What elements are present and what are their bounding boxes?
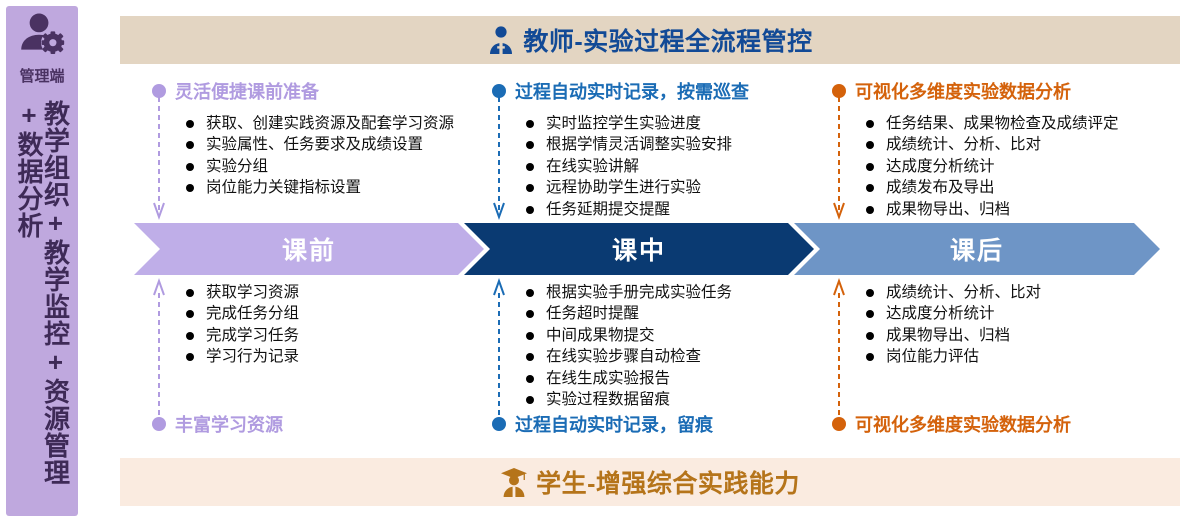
pre-class-teacher-bullets: 获取、创建实践资源及配套学习资源 实验属性、任务要求及成绩设置 实验分组 岗位能… [186, 113, 482, 199]
process-stage-bar: 课前 课中 课后 [134, 223, 1180, 275]
post-class-student-bullets: 成绩统计、分析、比对 达成度分析统计 成果物导出、归档 岗位能力评估 [866, 282, 1172, 368]
pre-class-teacher-heading-row: 灵活便捷课前准备 [152, 78, 482, 104]
in-class-teacher-heading: 过程自动实时记录，按需巡查 [515, 78, 749, 104]
list-item: 任务超时提醒 [526, 303, 822, 324]
list-item: 远程协助学生进行实验 [526, 177, 822, 198]
list-item: 岗位能力关键指标设置 [186, 177, 482, 198]
stage-post-class[interactable]: 课后 [794, 223, 1160, 275]
stage-in-class-label: 课中 [612, 231, 666, 267]
column-post-class-student: 成绩统计、分析、比对 达成度分析统计 成果物导出、归档 岗位能力评估 [832, 282, 1172, 368]
stage-pre-class[interactable]: 课前 [134, 223, 484, 275]
pre-class-student-heading-row: 丰富学习资源 [152, 411, 283, 437]
pre-class-teacher-heading: 灵活便捷课前准备 [175, 78, 319, 104]
teacher-icon [487, 25, 515, 55]
list-item: 成果物导出、归档 [866, 199, 1172, 220]
list-item: 任务结果、成果物检查及成绩评定 [866, 113, 1172, 134]
list-item: 实时监控学生实验进度 [526, 113, 822, 134]
in-class-student-heading: 过程自动实时记录，留痕 [515, 411, 713, 437]
sidebar-vertical-text: 教学组织+教学监控+资源管理+数据分析 [15, 100, 68, 516]
list-item: 中间成果物提交 [526, 325, 822, 346]
in-class-student-bullets: 根据实验手册完成实验任务 任务超时提醒 中间成果物提交 在线实验步骤自动检查 在… [526, 282, 822, 410]
pre-class-teacher-bullet-dot-icon [152, 84, 166, 98]
column-in-class-student: 根据实验手册完成实验任务 任务超时提醒 中间成果物提交 在线实验步骤自动检查 在… [492, 282, 822, 410]
pre-class-student-heading: 丰富学习资源 [175, 411, 283, 437]
stage-post-class-label: 课后 [950, 231, 1004, 267]
column-in-class-teacher: 过程自动实时记录，按需巡查 实时监控学生实验进度 根据学情灵活调整实验安排 在线… [492, 78, 822, 220]
list-item: 在线实验步骤自动检查 [526, 346, 822, 367]
list-item: 学习行为记录 [186, 346, 482, 367]
diagram-canvas: 管理端 教学组织+教学监控+资源管理+数据分析 教师-实验过程全流程管控 学生-… [0, 0, 1187, 522]
in-class-teacher-bullets: 实时监控学生实验进度 根据学情灵活调整实验安排 在线实验讲解 远程协助学生进行实… [526, 113, 822, 220]
list-item: 在线实验讲解 [526, 156, 822, 177]
stage-in-class[interactable]: 课中 [464, 223, 814, 275]
sidebar-admin-panel: 管理端 教学组织+教学监控+资源管理+数据分析 [6, 6, 78, 516]
post-class-student-bullet-dot-icon [832, 417, 846, 431]
column-pre-class-student: 获取学习资源 完成任务分组 完成学习任务 学习行为记录 [152, 282, 482, 368]
list-item: 成绩统计、分析、比对 [866, 282, 1172, 303]
post-class-teacher-bullets: 任务结果、成果物检查及成绩评定 成绩统计、分析、比对 达成度分析统计 成绩发布及… [866, 113, 1172, 220]
teacher-banner: 教师-实验过程全流程管控 [120, 16, 1180, 64]
student-graduate-icon [500, 467, 528, 497]
user-gear-icon [16, 12, 68, 63]
list-item: 根据实验手册完成实验任务 [526, 282, 822, 303]
stage-pre-class-label: 课前 [282, 231, 336, 267]
student-banner-title: 学生-增强综合实践能力 [536, 464, 800, 500]
list-item: 在线生成实验报告 [526, 368, 822, 389]
in-class-teacher-bullet-dot-icon [492, 84, 506, 98]
list-item: 成果物导出、归档 [866, 325, 1172, 346]
list-item: 成绩统计、分析、比对 [866, 134, 1172, 155]
list-item: 实验过程数据留痕 [526, 389, 822, 410]
list-item: 获取学习资源 [186, 282, 482, 303]
list-item: 达成度分析统计 [866, 156, 1172, 177]
pre-class-student-bullet-dot-icon [152, 417, 166, 431]
student-banner: 学生-增强综合实践能力 [120, 458, 1180, 506]
list-item: 任务延期提交提醒 [526, 199, 822, 220]
in-class-student-bullet-dot-icon [492, 417, 506, 431]
list-item: 达成度分析统计 [866, 303, 1172, 324]
list-item: 根据学情灵活调整实验安排 [526, 134, 822, 155]
post-class-student-heading-row: 可视化多维度实验数据分析 [832, 411, 1071, 437]
post-class-teacher-heading: 可视化多维度实验数据分析 [855, 78, 1071, 104]
column-pre-class-teacher: 灵活便捷课前准备 获取、创建实践资源及配套学习资源 实验属性、任务要求及成绩设置… [152, 78, 482, 199]
sidebar-role-label: 管理端 [19, 65, 64, 86]
list-item: 实验属性、任务要求及成绩设置 [186, 134, 482, 155]
list-item: 岗位能力评估 [866, 346, 1172, 367]
list-item: 完成任务分组 [186, 303, 482, 324]
pre-class-student-bullets: 获取学习资源 完成任务分组 完成学习任务 学习行为记录 [186, 282, 482, 368]
in-class-teacher-heading-row: 过程自动实时记录，按需巡查 [492, 78, 822, 104]
list-item: 完成学习任务 [186, 325, 482, 346]
post-class-teacher-bullet-dot-icon [832, 84, 846, 98]
list-item: 获取、创建实践资源及配套学习资源 [186, 113, 482, 134]
list-item: 成绩发布及导出 [866, 177, 1172, 198]
column-post-class-teacher: 可视化多维度实验数据分析 任务结果、成果物检查及成绩评定 成绩统计、分析、比对 … [832, 78, 1172, 220]
list-item: 实验分组 [186, 156, 482, 177]
in-class-student-heading-row: 过程自动实时记录，留痕 [492, 411, 713, 437]
post-class-teacher-heading-row: 可视化多维度实验数据分析 [832, 78, 1172, 104]
teacher-banner-title: 教师-实验过程全流程管控 [523, 22, 812, 58]
post-class-student-heading: 可视化多维度实验数据分析 [855, 411, 1071, 437]
